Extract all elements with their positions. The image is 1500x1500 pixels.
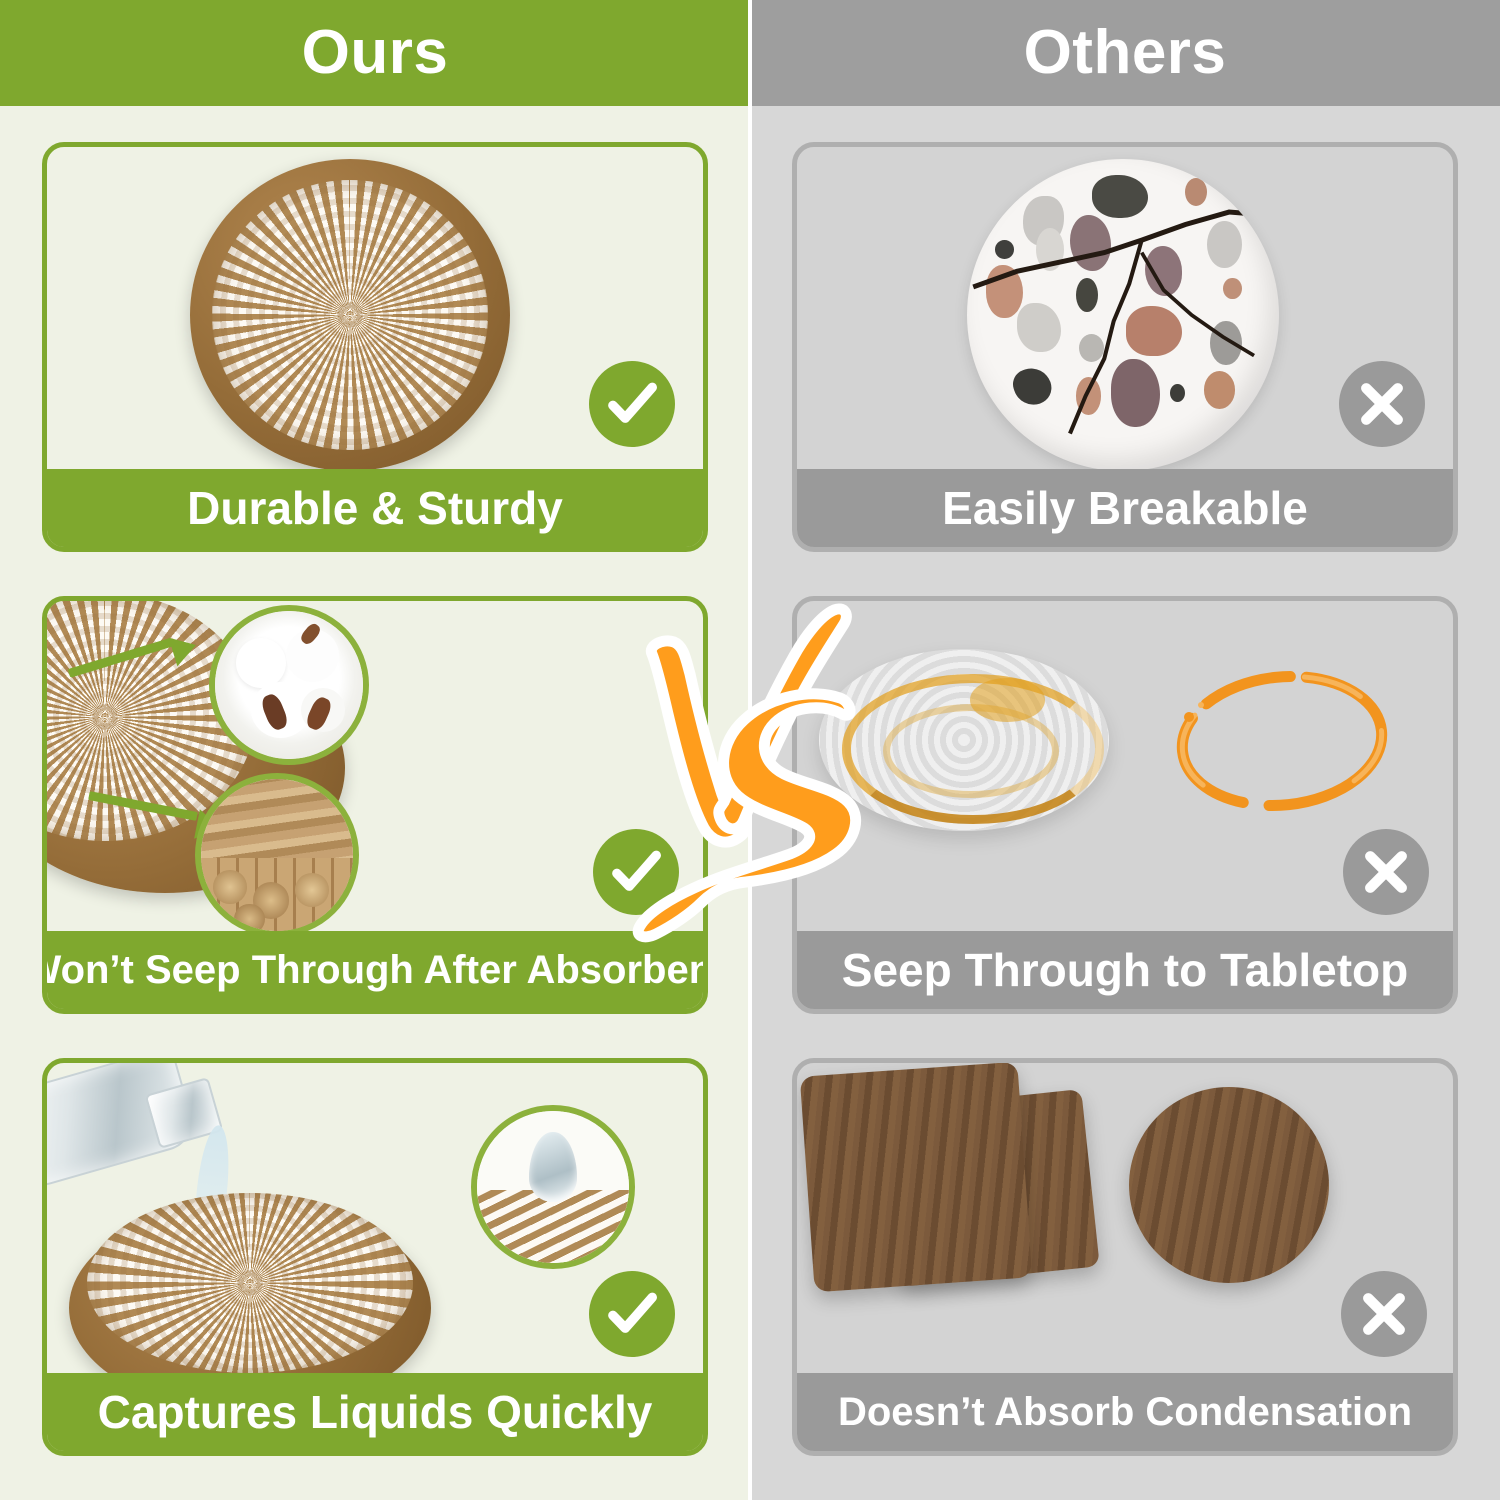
card-ours-captures[interactable]: Captures Liquids Quickly bbox=[42, 1058, 708, 1456]
card-media-captures bbox=[47, 1063, 703, 1373]
status-badge-check bbox=[589, 1271, 675, 1357]
card-label-text: Captures Liquids Quickly bbox=[98, 1389, 653, 1435]
column-header-others: Others bbox=[750, 0, 1500, 106]
wood-coaster-square-front bbox=[800, 1063, 1033, 1292]
card-label-no-seep: Won’t Seep Through After Absorbent bbox=[47, 931, 703, 1009]
cross-icon bbox=[1357, 1287, 1411, 1341]
card-media-no-seep bbox=[47, 601, 703, 931]
cross-icon bbox=[1355, 377, 1409, 431]
card-label-seep: Seep Through to Tabletop bbox=[797, 931, 1453, 1009]
card-others-breakable[interactable]: Easily Breakable bbox=[792, 142, 1458, 552]
inset-water-drop bbox=[471, 1105, 635, 1269]
coaster-spiral-texture bbox=[87, 1193, 413, 1373]
cross-icon bbox=[1359, 845, 1413, 899]
liquid-ring-stain bbox=[1169, 661, 1395, 821]
card-media-condensation bbox=[797, 1063, 1453, 1373]
card-others-seep[interactable]: Seep Through to Tabletop bbox=[792, 596, 1458, 1014]
column-header-ours: Ours bbox=[0, 0, 750, 106]
crack-lines bbox=[967, 159, 1279, 469]
coaster-woven-face bbox=[212, 180, 488, 450]
card-label-text: Seep Through to Tabletop bbox=[842, 947, 1408, 993]
coaster-woven-face bbox=[87, 1193, 413, 1373]
column-title-others: Others bbox=[1024, 22, 1227, 84]
wood-coaster-round bbox=[1129, 1087, 1329, 1283]
status-badge-cross bbox=[1341, 1271, 1427, 1357]
card-ours-no-seep[interactable]: Won’t Seep Through After Absorbent bbox=[42, 596, 708, 1014]
terrazzo-coaster bbox=[967, 159, 1279, 469]
status-badge-cross bbox=[1339, 361, 1425, 447]
card-media-breakable bbox=[797, 147, 1453, 469]
card-media-seep bbox=[797, 601, 1453, 931]
card-label-text: Doesn’t Absorb Condensation bbox=[838, 1392, 1412, 1432]
vs-badge bbox=[628, 606, 878, 956]
check-icon bbox=[605, 377, 659, 431]
status-badge-cross bbox=[1343, 829, 1429, 915]
card-label-breakable: Easily Breakable bbox=[797, 469, 1453, 547]
column-title-ours: Ours bbox=[302, 22, 449, 84]
comparison-infographic: Ours Durable & St bbox=[0, 0, 1500, 1500]
card-label-text: Easily Breakable bbox=[942, 485, 1308, 531]
card-ours-durable[interactable]: Durable & Sturdy bbox=[42, 142, 708, 552]
coaster-spiral-texture bbox=[212, 180, 488, 450]
inset-wood-material bbox=[195, 773, 359, 931]
card-label-text: Durable & Sturdy bbox=[187, 485, 563, 531]
check-icon bbox=[605, 1287, 659, 1341]
card-label-captures: Captures Liquids Quickly bbox=[47, 1373, 703, 1451]
card-label-text: Won’t Seep Through After Absorbent bbox=[42, 950, 708, 990]
vs-icon bbox=[628, 606, 878, 956]
inset-cotton-material bbox=[209, 605, 369, 765]
status-badge-check bbox=[589, 361, 675, 447]
card-others-condensation[interactable]: Doesn’t Absorb Condensation bbox=[792, 1058, 1458, 1456]
card-media-durable bbox=[47, 147, 703, 469]
card-label-condensation: Doesn’t Absorb Condensation bbox=[797, 1373, 1453, 1451]
card-label-durable: Durable & Sturdy bbox=[47, 469, 703, 547]
